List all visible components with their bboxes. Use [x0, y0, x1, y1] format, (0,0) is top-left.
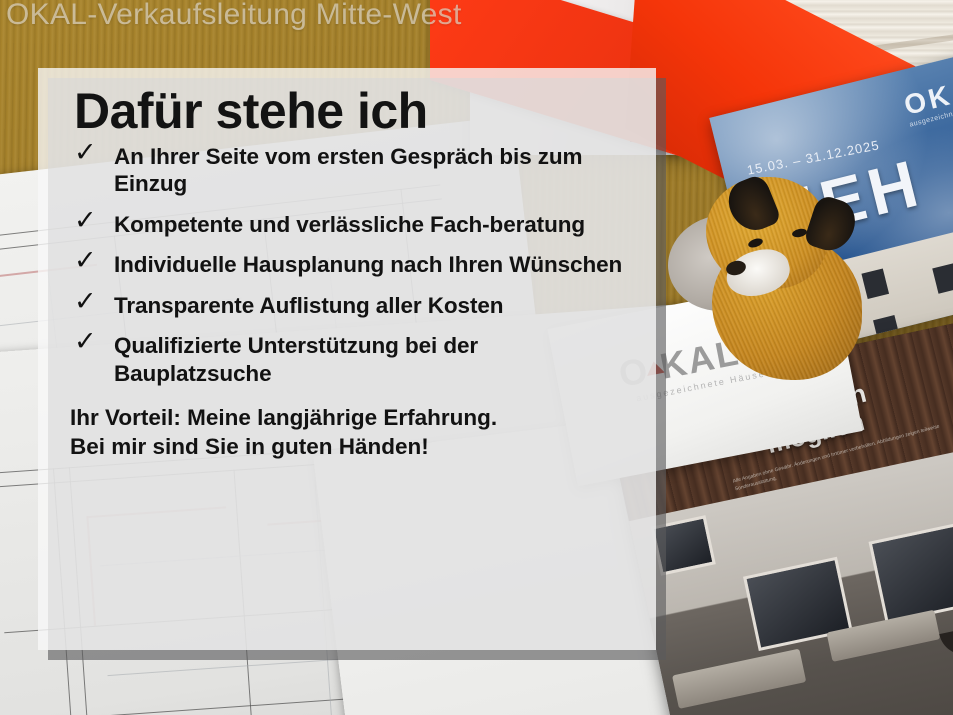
benefit-item: ✓ Individuelle Hausplanung nach Ihren Wü… — [66, 251, 626, 278]
benefit-text: Transparente Auflistung aller Kosten — [114, 293, 503, 318]
flyer-brand-logo: OKAL ausgezeichnete Häuser — [901, 69, 953, 129]
benefit-item: ✓ Qualifizierte Unterstützung bei der Ba… — [66, 332, 626, 387]
check-icon: ✓ — [74, 247, 100, 273]
panel-headline: Dafür stehe ich — [74, 86, 632, 137]
benefit-item: ✓ Transparente Auflistung aller Kosten — [66, 292, 626, 319]
slide-canvas: 1368-3000900 Dokument U — [0, 0, 953, 715]
closing-line-2: Bei mir sind Sie in guten Händen! — [70, 432, 632, 461]
fox-ear-right — [803, 193, 861, 256]
closing-statement: Ihr Vorteil: Meine langjährige Erfahrung… — [70, 403, 632, 462]
check-icon: ✓ — [74, 207, 100, 233]
check-icon: ✓ — [74, 288, 100, 314]
fox-eye-left — [747, 237, 764, 249]
benefit-item: ✓ An Ihrer Seite vom ersten Gespräch bis… — [66, 143, 626, 198]
fox-head — [706, 177, 828, 289]
benefit-item: ✓ Kompetente und verlässliche Fach-berat… — [66, 211, 626, 238]
benefit-text: Qualifizierte Unterstützung bei der Baup… — [114, 333, 478, 385]
closing-line-1: Ihr Vorteil: Meine langjährige Erfahrung… — [70, 403, 632, 432]
benefit-text: Individuelle Hausplanung nach Ihren Wüns… — [114, 252, 622, 277]
content-panel: Dafür stehe ich ✓ An Ihrer Seite vom ers… — [38, 68, 656, 650]
benefit-text: An Ihrer Seite vom ersten Gespräch bis z… — [114, 144, 582, 196]
page-title: OKAL-Verkaufsleitung Mitte-West — [6, 0, 462, 32]
fox-ear-left — [722, 173, 782, 238]
plush-fox-toy — [680, 155, 890, 385]
benefits-list: ✓ An Ihrer Seite vom ersten Gespräch bis… — [60, 143, 632, 387]
check-icon: ✓ — [74, 328, 100, 354]
check-icon: ✓ — [74, 139, 100, 165]
benefit-text: Kompetente und verlässliche Fach-beratun… — [114, 212, 585, 237]
